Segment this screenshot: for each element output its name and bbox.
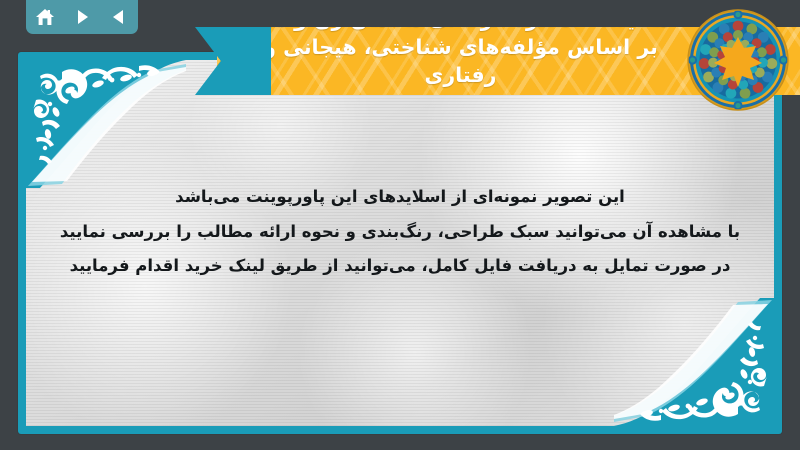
right-triangle-icon [73, 8, 91, 26]
body-line-2: با مشاهده آن می‌توانید سبک طراحی، رنگ‌بن… [58, 215, 742, 250]
content-frame: این تصویر نمونه‌ای از اسلایدهای این پاور… [18, 52, 782, 434]
next-slide-button[interactable] [67, 4, 97, 30]
title-line-1: مقایسه عملکرد حرفه‌ای معلمان زن و مرد [251, 27, 670, 31]
slide-navigation-bar [26, 0, 138, 34]
body-line-3: در صورت تمایل به دریافت فایل کامل، می‌تو… [58, 249, 742, 284]
left-triangle-icon [110, 8, 128, 26]
slide-body-text: این تصویر نمونه‌ای از اسلایدهای این پاور… [58, 180, 742, 284]
previous-slide-button[interactable] [104, 4, 134, 30]
mandala-medallion [686, 8, 790, 112]
title-line-3: رفتاری [425, 63, 497, 87]
page-title: مقایسه عملکرد حرفه‌ای معلمان زن و مرد بر… [217, 27, 704, 89]
home-button[interactable] [30, 4, 60, 30]
title-line-2: بر اساس مؤلفه‌های شناختی، هیجانی و [263, 35, 658, 59]
home-icon [35, 8, 55, 27]
presentation-slide: مقایسه عملکرد حرفه‌ای معلمان زن و مرد بر… [0, 0, 800, 450]
body-line-1: این تصویر نمونه‌ای از اسلایدهای این پاور… [58, 180, 742, 215]
